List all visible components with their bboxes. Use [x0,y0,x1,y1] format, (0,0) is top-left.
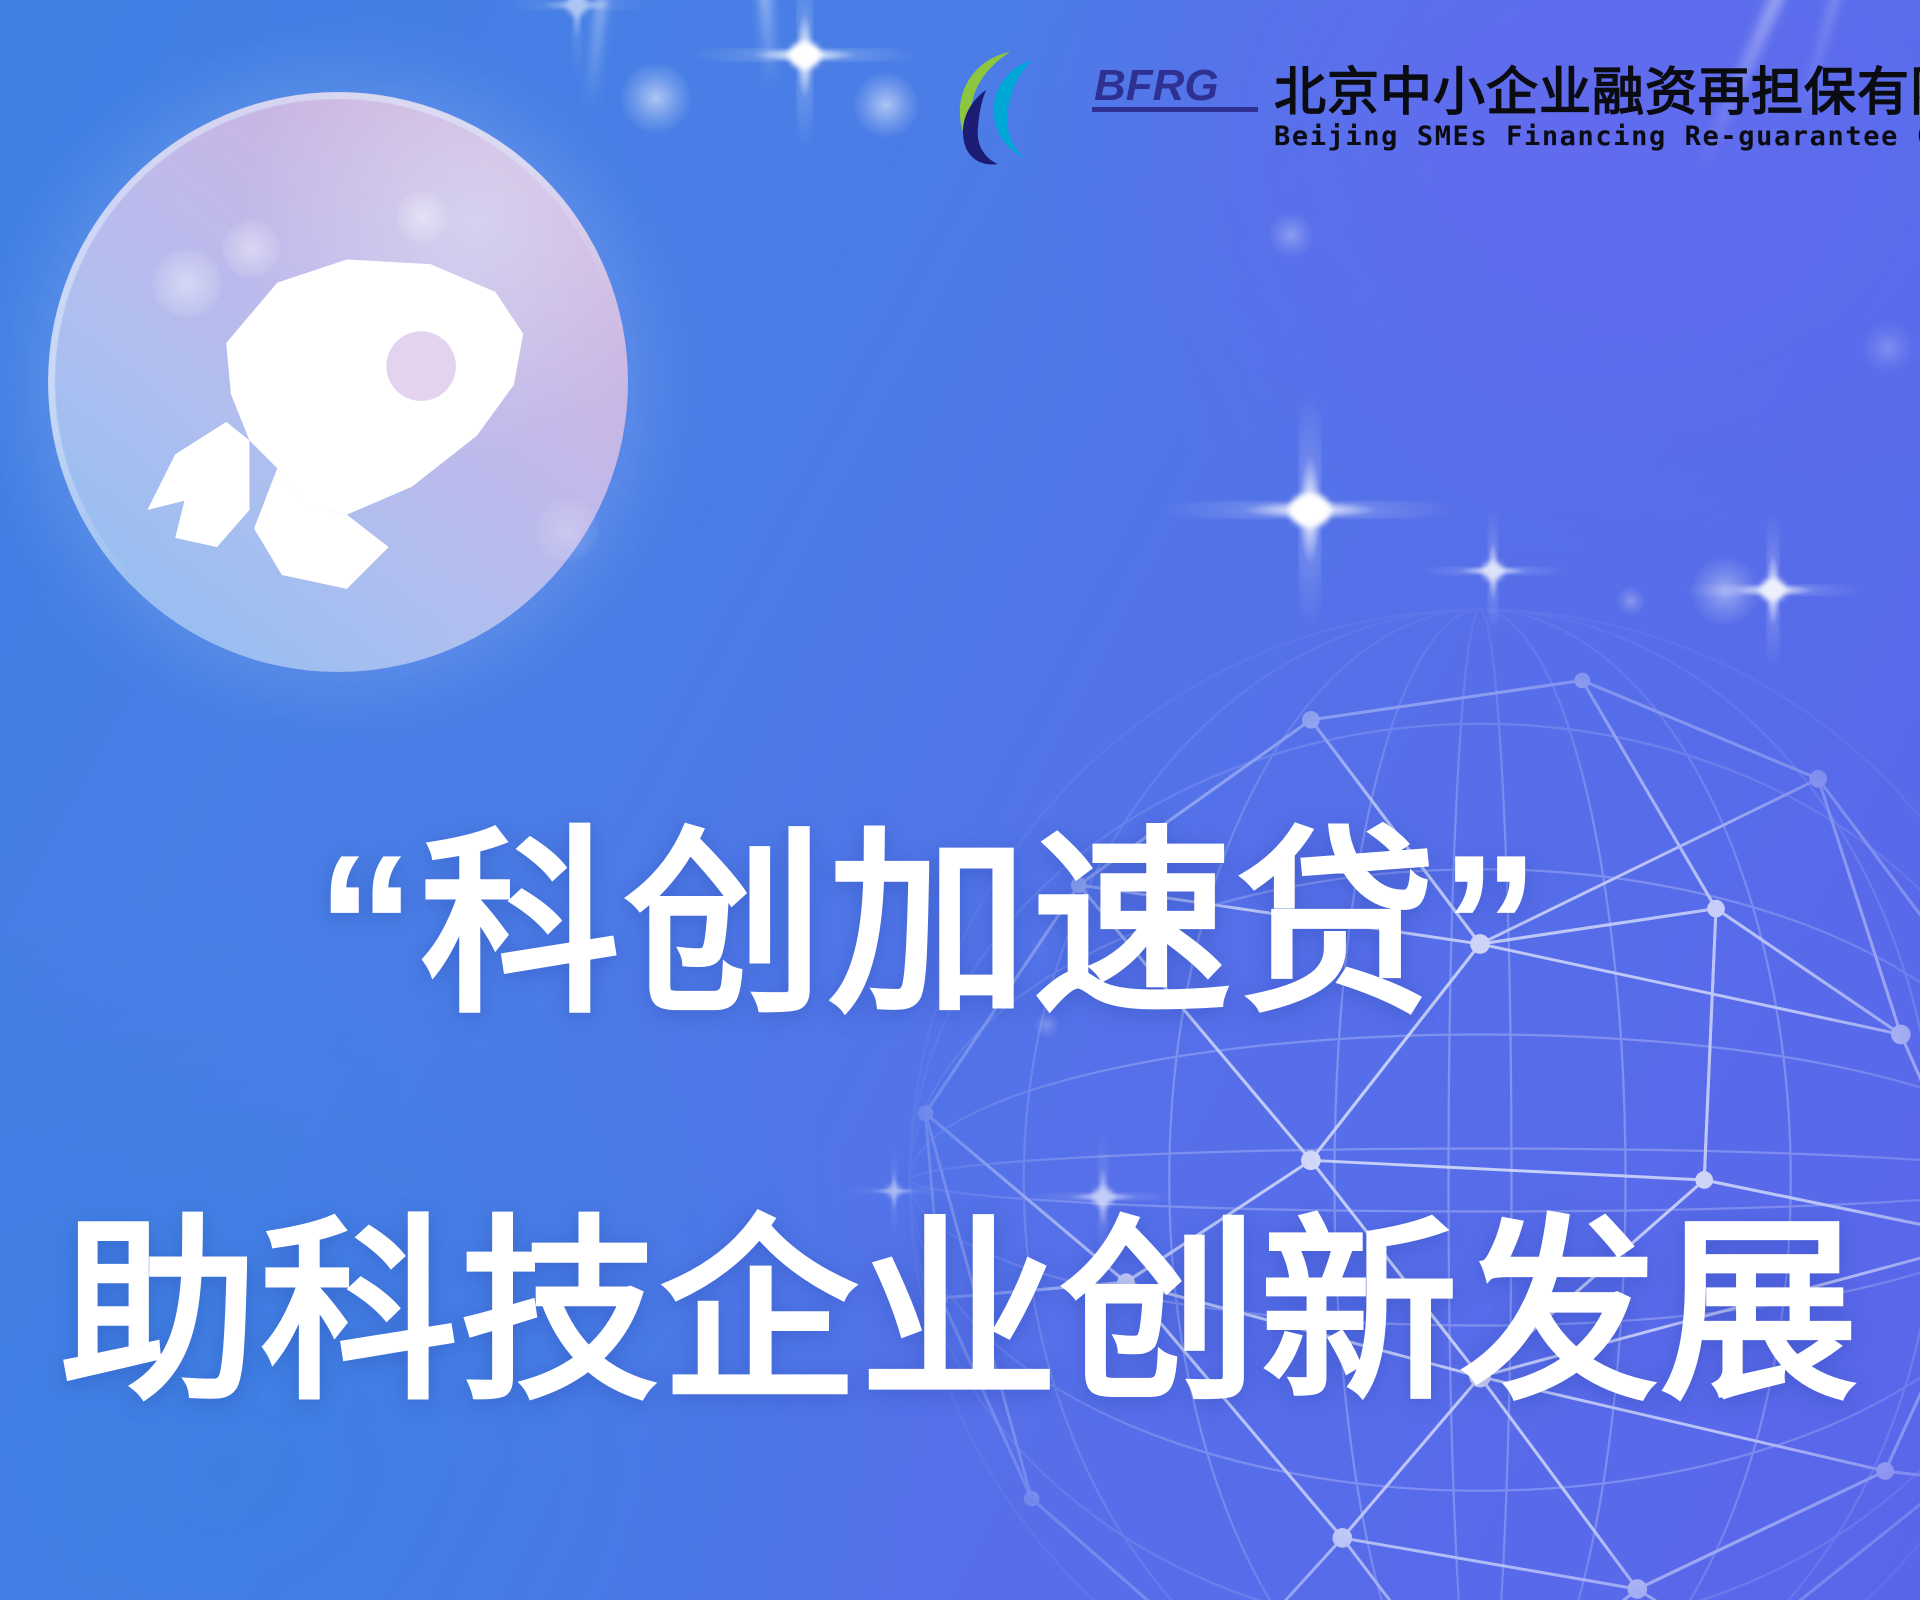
headline-secondary: 助科技企业创新发展 [60,1208,1860,1418]
sparkle-star [502,0,652,80]
sparkle-star [1418,506,1568,636]
sparkle-star [1680,510,1866,670]
sparkle-star [1160,390,1460,630]
corporate-wordmark: BFRG 北京中小企业融资再担保有限公司 Beijing SMEs Financ… [1092,62,1920,152]
bokeh-light [1690,556,1760,626]
light-beam [758,0,777,86]
corporate-header: BFRG 北京中小企业融资再担保有限公司 Beijing SMEs Financ… [948,48,1920,166]
company-name-cn: 北京中小企业融资再担保有限公司 [1274,67,1920,120]
company-name-en: Beijing SMEs Financing Re-guarantee Co.,… [1274,122,1920,152]
bfrg-initials-text: BFRG [1094,62,1219,110]
sparkle-star [690,0,920,150]
headline-block: “科创加速贷” 助科技企业创新发展 [0,820,1920,1418]
rocket-icon [94,162,581,626]
bokeh-light [1862,322,1914,374]
bokeh-light [853,72,919,138]
bokeh-light [620,62,692,134]
bfrg-initials-icon: BFRG [1092,62,1260,116]
headline-primary: “科创加速贷” [0,820,1860,1032]
bokeh-light [1268,212,1314,258]
bokeh-light [1616,586,1646,616]
bfrg-logo-icon [948,48,1076,166]
rocket-badge [48,92,628,672]
poster-canvas: BFRG 北京中小企业融资再担保有限公司 Beijing SMEs Financ… [0,0,1920,1600]
